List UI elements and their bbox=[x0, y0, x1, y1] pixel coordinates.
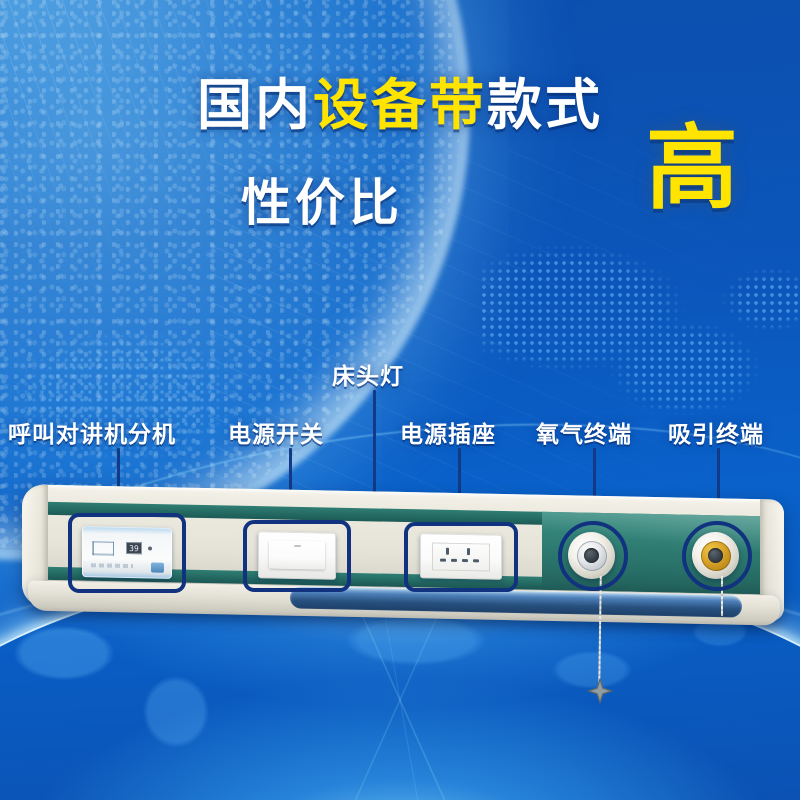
headline-part-2-accent: 设备带 bbox=[313, 74, 487, 136]
callout-label-bed-lamp: 床头灯 bbox=[332, 357, 404, 391]
headline-block: 国内设备带款式 性价比 高 bbox=[0, 78, 800, 245]
highlight-power-socket bbox=[404, 522, 518, 592]
highlight-power-switch bbox=[243, 520, 351, 592]
callout-label-suction: 吸引终端 bbox=[668, 415, 764, 449]
headline-line-2: 性价比 bbox=[0, 163, 722, 235]
headline-emphasis-character: 高 bbox=[646, 123, 738, 215]
callout-label-oxygen: 氧气终端 bbox=[536, 415, 632, 449]
headline-part-1: 国内 bbox=[197, 74, 313, 136]
headline-part-3: 款式 bbox=[487, 74, 603, 136]
highlight-suction bbox=[682, 521, 752, 591]
callout-label-intercom: 呼叫对讲机分机 bbox=[8, 415, 176, 449]
highlight-intercom bbox=[68, 513, 186, 593]
cord-pull-handle-icon[interactable] bbox=[586, 678, 614, 704]
callout-label-power-socket: 电源插座 bbox=[400, 415, 496, 449]
headline-line-2-row: 性价比 高 bbox=[0, 155, 800, 245]
callout-label-power-switch: 电源开关 bbox=[228, 415, 324, 449]
product-banner: 国内设备带款式 性价比 高 呼叫对讲机分机 电源开关 床头灯 电源插座 氧气终端… bbox=[0, 0, 800, 800]
highlight-oxygen bbox=[558, 521, 628, 591]
